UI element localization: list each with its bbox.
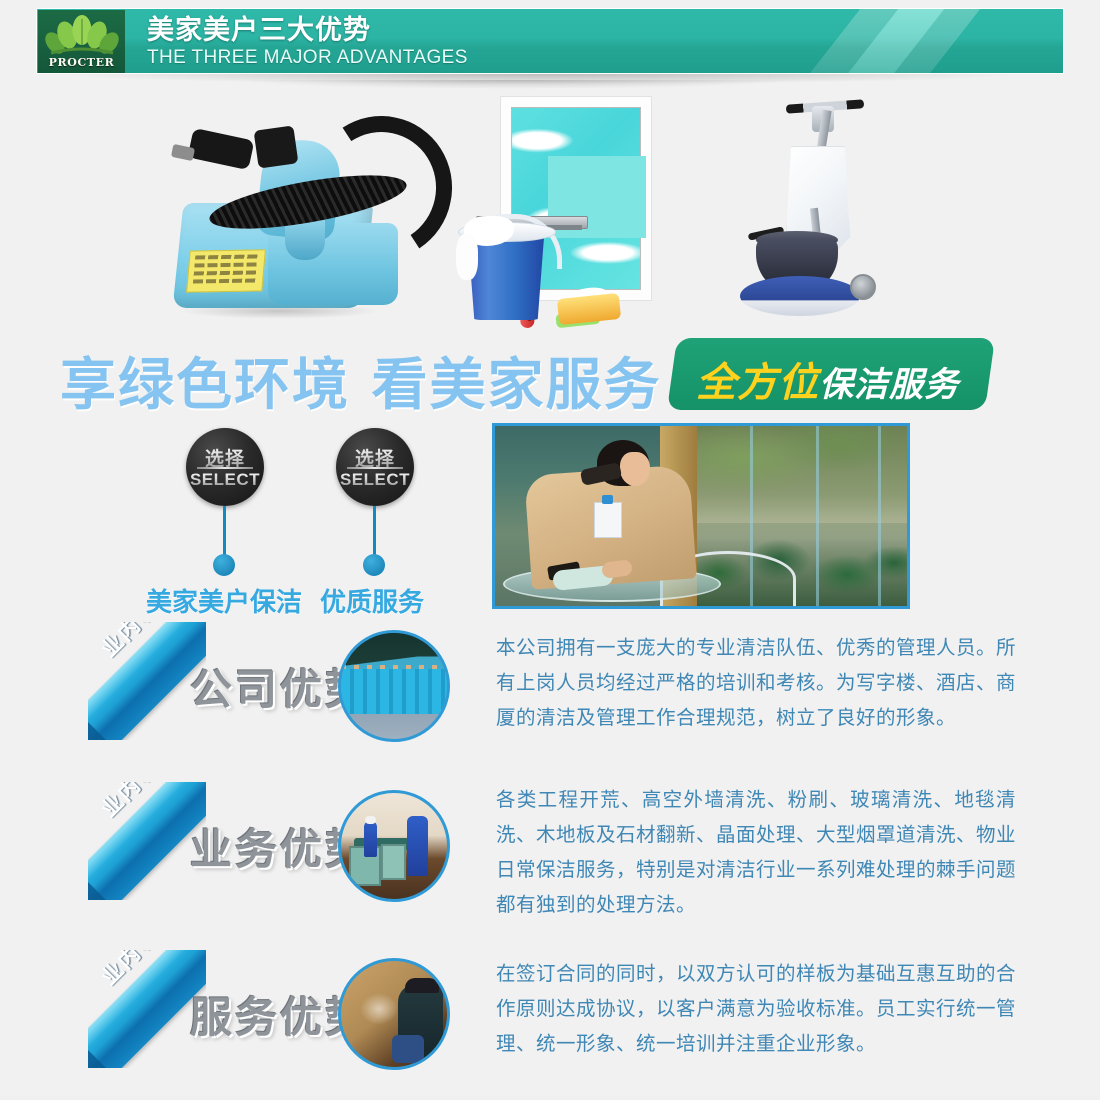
photo2-chair-right xyxy=(381,844,406,880)
sprayer-nozzle xyxy=(285,220,325,260)
select-badge-1-en: SELECT xyxy=(186,470,264,490)
service-badge-rest: 保洁服务 xyxy=(819,365,959,405)
window-cleaning-image xyxy=(440,88,690,333)
hero-window-mullion-3 xyxy=(878,426,881,606)
photo1-staff-uniforms xyxy=(341,669,447,714)
select-dot-1 xyxy=(213,554,235,576)
photo2-worker-cap xyxy=(365,816,376,823)
photo3-spray-mist xyxy=(360,993,398,1025)
photo2-worker-right xyxy=(407,816,428,875)
select-connector-2 xyxy=(373,506,376,558)
advantage-row-1: 业内领先 公司优势 本公司拥有一支庞大的专业清洁队伍、优秀的管理人员。所有上岗人… xyxy=(0,622,1100,772)
sprayer-spec-label xyxy=(186,249,266,292)
advantage-row-2: 业内领先 业务优势 各类工程开荒、高空外墙清洗、粉刷、玻璃清洗、地毯清洗、木地板… xyxy=(0,782,1100,932)
select-badge-1[interactable]: 选择 SELECT xyxy=(186,428,264,506)
select-connector-1 xyxy=(223,506,226,558)
ribbon-2: 业内领先 xyxy=(88,782,206,900)
product-image-row xyxy=(0,88,1100,338)
main-slogan: 享绿色环境 看美家服务 xyxy=(60,340,662,421)
photo3-sprayer-machine xyxy=(392,1035,424,1063)
advantage-text-3: 在签订合同的同时，以双方认可的样板为基础互惠互助的合作原则达成协议，以客户满意为… xyxy=(496,956,1016,1061)
advantage-text-1: 本公司拥有一支庞大的专业清洁队伍、优秀的管理人员。所有上岗人员均经过严格的培训和… xyxy=(496,630,1016,735)
select-dot-2 xyxy=(363,554,385,576)
promo-page: PROCTER 美家美户三大优势 THE THREE MAJOR ADVANTA… xyxy=(0,0,1100,1096)
advantage-photo-1 xyxy=(338,630,450,742)
header-title-cn: 美家美户三大优势 xyxy=(147,15,468,46)
select-badge-2[interactable]: 选择 SELECT xyxy=(336,428,414,506)
photo3-worker-cap xyxy=(405,978,439,993)
bucket-suds-side xyxy=(456,234,478,280)
select-badge-group: 选择 SELECT 美家美户保洁 选择 SELECT 优质服务 xyxy=(0,420,480,620)
select-badge-2-rule xyxy=(347,467,403,469)
hero-photo xyxy=(492,423,910,609)
service-badge-highlight: 全方位 xyxy=(696,360,819,406)
brand-name: PROCTER xyxy=(38,56,125,69)
service-badge: 全方位保洁服务 xyxy=(667,338,995,410)
sprayer-black-fitting-mid xyxy=(254,125,299,168)
advantage-row-3: 业内领先 服务优势 在签订合同的同时，以双方认可的样板为基础互惠互助的合作原则达… xyxy=(0,950,1100,1100)
hero-window-mullion-2 xyxy=(816,426,819,606)
advantage-photo-2 xyxy=(338,790,450,902)
page-header: PROCTER 美家美户三大优势 THE THREE MAJOR ADVANTA… xyxy=(36,8,1064,74)
photo2-worker-left xyxy=(364,821,377,857)
sprayer-black-fitting-left xyxy=(188,128,255,170)
advantage-text-2: 各类工程开荒、高空外墙清洗、粉刷、玻璃清洗、地毯清洗、木地板及石材翻新、晶面处理… xyxy=(496,782,1016,922)
floor-polisher-image xyxy=(730,88,920,333)
polisher-wheel xyxy=(850,274,876,300)
photo1-canopy xyxy=(341,633,447,669)
brand-logo: PROCTER xyxy=(38,10,125,74)
leaf-crown-icon xyxy=(45,15,119,59)
advantage-photo-3 xyxy=(338,958,450,1070)
select-label-1: 美家美户保洁 xyxy=(146,582,302,619)
ulv-sprayer-image xyxy=(160,98,430,328)
select-badge-1-rule xyxy=(197,467,253,469)
ribbon-3: 业内领先 xyxy=(88,950,206,1068)
hero-worker-id-badge xyxy=(594,502,622,538)
polisher-pad-base xyxy=(740,276,860,316)
header-text-block: 美家美户三大优势 THE THREE MAJOR ADVANTAGES xyxy=(147,15,468,70)
header-title-en: THE THREE MAJOR ADVANTAGES xyxy=(147,46,468,70)
select-label-2: 优质服务 xyxy=(320,582,424,619)
select-badge-2-en: SELECT xyxy=(336,470,414,490)
sponge xyxy=(557,293,621,325)
header-banner: PROCTER 美家美户三大优势 THE THREE MAJOR ADVANTA… xyxy=(36,8,1064,74)
ribbon-1: 业内领先 xyxy=(88,622,206,740)
